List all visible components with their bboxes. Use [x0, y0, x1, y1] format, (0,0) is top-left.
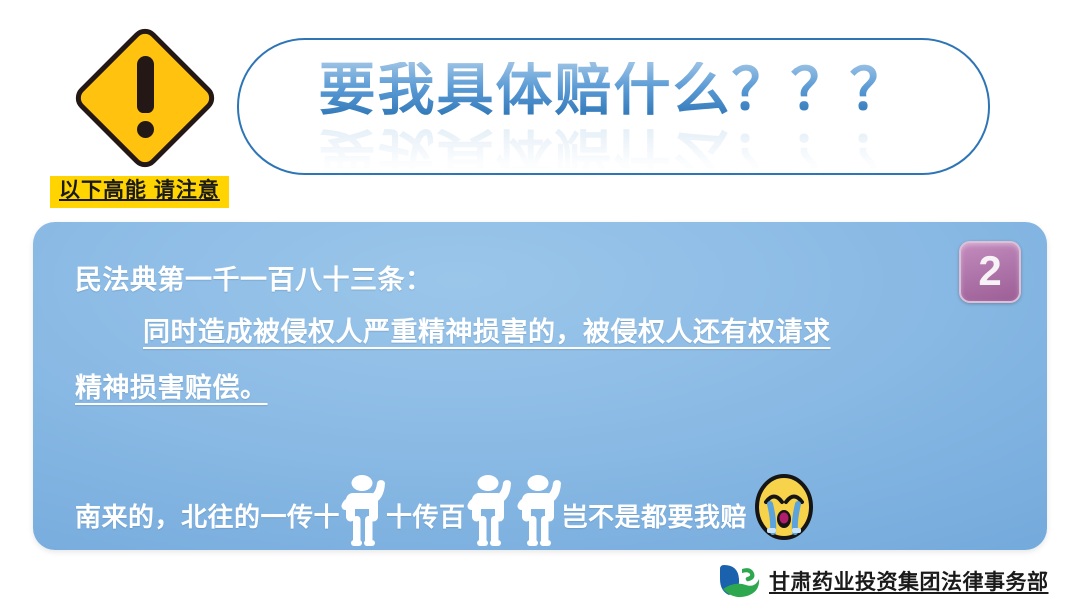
footer: 甘肃药业投资集团法律事务部 — [716, 563, 1049, 599]
law-article-body-line-2: 精神损害赔偿。 — [75, 372, 268, 404]
warning-exclamation-sign — [70, 22, 220, 174]
caption-row: 南来的，北往的一传十 十传百 — [75, 462, 1005, 546]
leaf-logo-icon — [716, 563, 760, 599]
warning-banner-label: 以下高能 请注意 — [50, 176, 229, 208]
law-article-heading: 民法典第一千一百八十三条： — [75, 264, 433, 296]
page-title: 要我具体赔什么？？？ — [237, 62, 990, 119]
loudly-crying-face-icon — [753, 474, 815, 540]
footer-organization-label: 甘肃药业投资集团法律事务部 — [769, 566, 1049, 596]
caption-text-part-3: 岂不是都要我赔 — [562, 504, 748, 546]
caption-text-part-2: 十传百 — [386, 504, 466, 546]
person-raising-hand-icon — [516, 474, 562, 546]
person-raising-hand-icon — [340, 474, 386, 546]
content-panel: 2 民法典第一千一百八十三条： 同时造成被侵权人严重精神损害的，被侵权人还有权请… — [33, 222, 1047, 550]
law-article-body-line-1: 同时造成被侵权人严重精神损害的，被侵权人还有权请求 — [143, 316, 831, 348]
slide-canvas: 以下高能 请注意 要我具体赔什么？？？ 要我具体赔什么？？？ 2 民法典第一千一… — [0, 0, 1080, 608]
caption-text-part-1: 南来的，北往的一传十 — [75, 504, 340, 546]
section-number-badge: 2 — [959, 241, 1021, 303]
exclamation-dot-icon — [137, 121, 154, 138]
person-raising-hand-icon — [466, 474, 512, 546]
exclamation-bar-icon — [137, 56, 154, 113]
